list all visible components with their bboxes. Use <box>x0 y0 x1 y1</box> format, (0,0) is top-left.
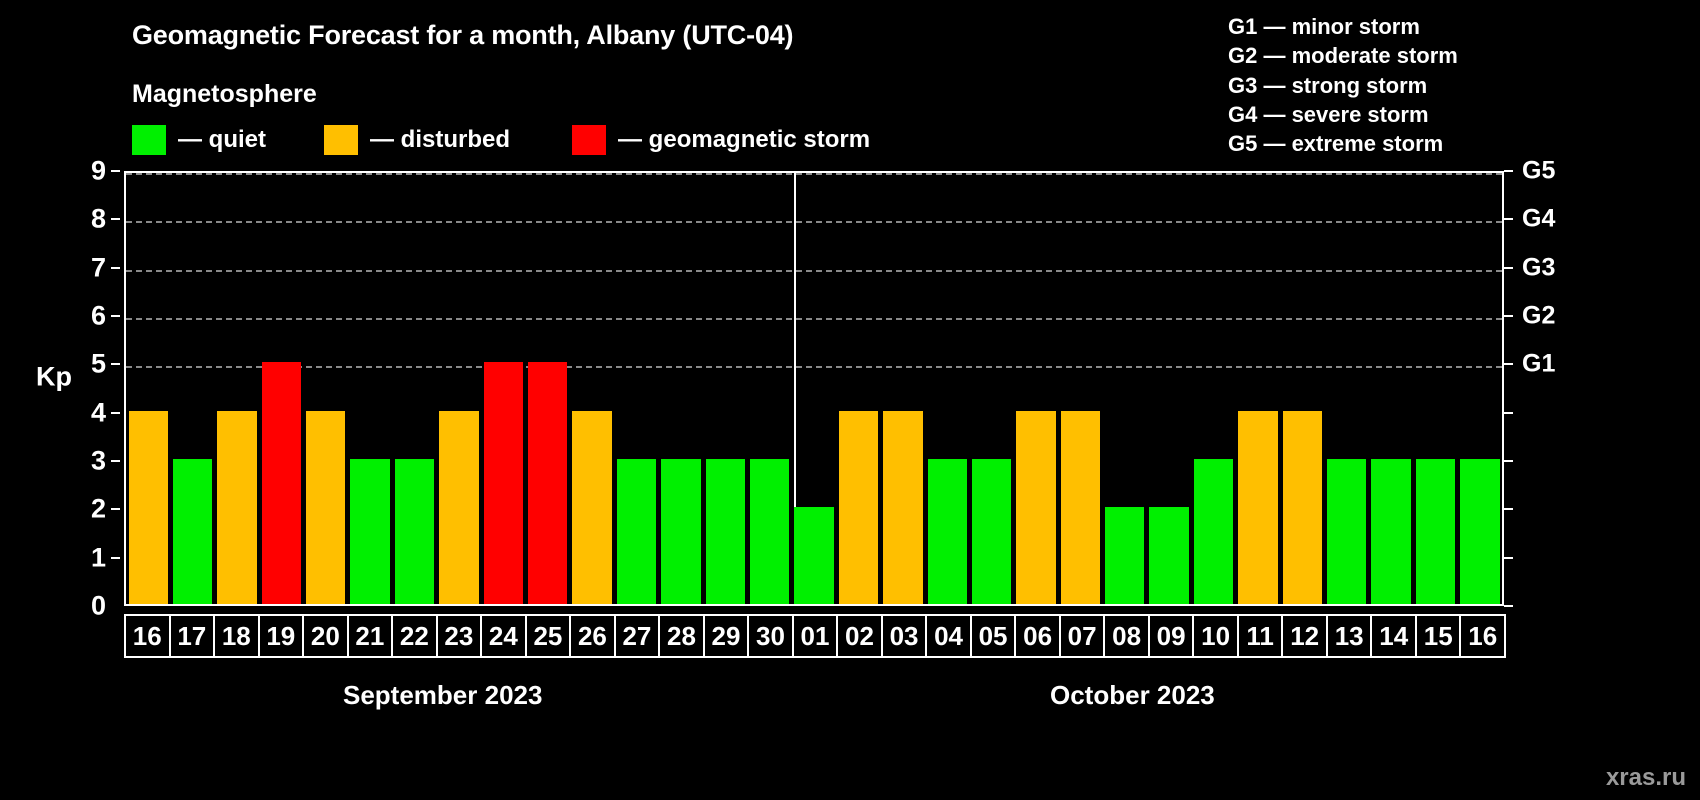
bar-cell[interactable] <box>1058 173 1102 604</box>
bar[interactable] <box>617 459 656 604</box>
bar[interactable] <box>350 459 389 604</box>
bar[interactable] <box>173 459 212 604</box>
g-tick-label: G1 <box>1522 350 1555 379</box>
bar-cell[interactable] <box>126 173 170 604</box>
bar-cell[interactable] <box>1147 173 1191 604</box>
legend-swatch-quiet-icon <box>132 125 166 155</box>
bar[interactable] <box>1371 459 1410 604</box>
y-tick-mark <box>111 170 120 172</box>
date-cell[interactable]: 16 <box>124 614 171 658</box>
bar[interactable] <box>306 411 345 604</box>
bar-cell[interactable] <box>836 173 880 604</box>
date-cell[interactable]: 10 <box>1192 614 1239 658</box>
g-scale-row: G1 — minor storm <box>1228 12 1458 41</box>
bar-cell[interactable] <box>437 173 481 604</box>
bar[interactable] <box>572 411 611 604</box>
y-tick-mark <box>111 508 120 510</box>
g-tick-mark <box>1504 605 1513 607</box>
bar[interactable] <box>1016 411 1055 604</box>
date-cell[interactable]: 12 <box>1281 614 1328 658</box>
g-tick-mark <box>1504 460 1513 462</box>
bar-cell[interactable] <box>392 173 436 604</box>
legend-entry-disturbed: — disturbed <box>324 125 510 155</box>
date-cell[interactable]: 13 <box>1326 614 1373 658</box>
date-cell[interactable]: 28 <box>658 614 705 658</box>
bar[interactable] <box>1149 507 1188 604</box>
bar-cell[interactable] <box>1369 173 1413 604</box>
date-cell[interactable]: 21 <box>347 614 394 658</box>
legend-swatch-geomagnetic-storm-icon <box>572 125 606 155</box>
g-tick-mark <box>1504 267 1513 269</box>
bar-cell[interactable] <box>881 173 925 604</box>
bar-cell[interactable] <box>1236 173 1280 604</box>
date-cell[interactable]: 16 <box>1459 614 1506 658</box>
g-tick-label: G4 <box>1522 205 1555 234</box>
y-tick-mark <box>111 460 120 462</box>
date-cell[interactable]: 23 <box>436 614 483 658</box>
bar[interactable] <box>1460 459 1499 604</box>
bar-cell[interactable] <box>481 173 525 604</box>
date-cell[interactable]: 08 <box>1103 614 1150 658</box>
g-tick-label: G3 <box>1522 253 1555 282</box>
date-cell[interactable]: 20 <box>302 614 349 658</box>
y-axis-kp: 0123456789 <box>74 171 120 606</box>
page-title: Geomagnetic Forecast for a month, Albany… <box>132 20 793 51</box>
date-cell[interactable]: 18 <box>213 614 260 658</box>
y-tick-mark <box>111 363 120 365</box>
legend-entry-quiet: — quiet <box>132 125 266 155</box>
bar-cell[interactable] <box>570 173 614 604</box>
bar-cell[interactable] <box>659 173 703 604</box>
magnetosphere-legend: — quiet— disturbed— geomagnetic storm <box>132 125 870 155</box>
g-tick-mark <box>1504 412 1513 414</box>
bar-cell[interactable] <box>703 173 747 604</box>
bar[interactable] <box>794 507 833 604</box>
date-cell[interactable]: 30 <box>747 614 794 658</box>
date-cell[interactable]: 04 <box>925 614 972 658</box>
bar[interactable] <box>928 459 967 604</box>
y-tick-label: 5 <box>91 349 106 380</box>
bar-cell[interactable] <box>925 173 969 604</box>
watermark: xras.ru <box>1606 764 1686 792</box>
date-cell[interactable]: 19 <box>258 614 305 658</box>
bar[interactable] <box>839 411 878 604</box>
date-cell[interactable]: 11 <box>1237 614 1284 658</box>
date-cell[interactable]: 24 <box>480 614 527 658</box>
bar[interactable] <box>1238 411 1277 604</box>
bar-cell[interactable] <box>1191 173 1235 604</box>
y-tick-mark <box>111 557 120 559</box>
magnetosphere-label: Magnetosphere <box>132 80 317 109</box>
g-tick-mark <box>1504 363 1513 365</box>
y-tick-mark <box>111 412 120 414</box>
y-tick-label: 6 <box>91 301 106 332</box>
g-tick-mark <box>1504 508 1513 510</box>
date-cell[interactable]: 15 <box>1415 614 1462 658</box>
legend-label: — disturbed <box>370 126 510 154</box>
g-scale-row: G3 — strong storm <box>1228 71 1458 100</box>
date-cell[interactable]: 07 <box>1059 614 1106 658</box>
bar-cell[interactable] <box>969 173 1013 604</box>
g-tick-mark <box>1504 315 1513 317</box>
plot-area <box>124 171 1504 606</box>
y-tick-mark <box>111 267 120 269</box>
date-cell[interactable]: 01 <box>792 614 839 658</box>
g-scale-row: G5 — extreme storm <box>1228 129 1458 158</box>
y-tick-label: 8 <box>91 204 106 235</box>
date-cell[interactable]: 17 <box>169 614 216 658</box>
g-scale-row: G2 — moderate storm <box>1228 41 1458 70</box>
bar[interactable] <box>1105 507 1144 604</box>
date-cell[interactable]: 09 <box>1148 614 1195 658</box>
date-cell[interactable]: 06 <box>1014 614 1061 658</box>
bar-cell[interactable] <box>1103 173 1147 604</box>
month-caption: September 2023 <box>343 680 542 711</box>
bar-cell[interactable] <box>1413 173 1457 604</box>
bar-cell[interactable] <box>1014 173 1058 604</box>
bar[interactable] <box>217 411 256 604</box>
bar-cell[interactable] <box>614 173 658 604</box>
y-tick-label: 7 <box>91 252 106 283</box>
bar-cell[interactable] <box>304 173 348 604</box>
bar[interactable] <box>528 362 567 604</box>
bars-container <box>126 173 1502 604</box>
month-caption: October 2023 <box>1050 680 1215 711</box>
bar-cell[interactable] <box>792 173 836 604</box>
bar[interactable] <box>395 459 434 604</box>
legend-label: — geomagnetic storm <box>618 126 870 154</box>
g-tick-label: G2 <box>1522 302 1555 331</box>
bar[interactable] <box>262 362 301 604</box>
bar[interactable] <box>484 362 523 604</box>
bar-cell[interactable] <box>1458 173 1502 604</box>
bar-cell[interactable] <box>1280 173 1324 604</box>
bar[interactable] <box>883 411 922 604</box>
bar-cell[interactable] <box>348 173 392 604</box>
date-cell[interactable]: 29 <box>703 614 750 658</box>
bar[interactable] <box>129 411 168 604</box>
y-tick-mark <box>111 315 120 317</box>
g-tick-label: G5 <box>1522 157 1555 186</box>
y-tick-label: 9 <box>91 156 106 187</box>
bar-cell[interactable] <box>747 173 791 604</box>
bar[interactable] <box>1283 411 1322 604</box>
bar[interactable] <box>661 459 700 604</box>
y-tick-label: 1 <box>91 542 106 573</box>
date-cell[interactable]: 27 <box>614 614 661 658</box>
date-cell[interactable]: 22 <box>391 614 438 658</box>
bar-cell[interactable] <box>526 173 570 604</box>
bar[interactable] <box>1061 411 1100 604</box>
bar[interactable] <box>972 459 1011 604</box>
bar[interactable] <box>750 459 789 604</box>
bar[interactable] <box>1194 459 1233 604</box>
g-tick-mark <box>1504 557 1513 559</box>
bar[interactable] <box>1416 459 1455 604</box>
y-tick-mark <box>111 218 120 220</box>
date-cell[interactable]: 02 <box>836 614 883 658</box>
bar[interactable] <box>1327 459 1366 604</box>
y-tick-label: 3 <box>91 446 106 477</box>
bar-cell[interactable] <box>259 173 303 604</box>
date-cell[interactable]: 03 <box>881 614 928 658</box>
y-tick-label: 0 <box>91 591 106 622</box>
y-tick-label: 4 <box>91 397 106 428</box>
bar-cell[interactable] <box>215 173 259 604</box>
date-cell[interactable]: 26 <box>569 614 616 658</box>
date-cell[interactable]: 05 <box>970 614 1017 658</box>
bar[interactable] <box>439 411 478 604</box>
date-cell[interactable]: 14 <box>1370 614 1417 658</box>
legend-swatch-disturbed-icon <box>324 125 358 155</box>
bar-cell[interactable] <box>1325 173 1369 604</box>
g-scale-row: G4 — severe storm <box>1228 100 1458 129</box>
y-tick-label: 2 <box>91 494 106 525</box>
g-scale-legend: G1 — minor stormG2 — moderate stormG3 — … <box>1228 12 1458 158</box>
y-axis-g-scale: G1G2G3G4G5 <box>1504 171 1584 606</box>
date-cell[interactable]: 25 <box>525 614 572 658</box>
g-tick-mark <box>1504 218 1513 220</box>
bar-cell[interactable] <box>170 173 214 604</box>
bar[interactable] <box>706 459 745 604</box>
legend-label: — quiet <box>178 126 266 154</box>
y-axis-title: Kp <box>36 362 72 393</box>
legend-entry-geomagnetic-storm: — geomagnetic storm <box>572 125 870 155</box>
date-axis: 1617181920212223242526272829300102030405… <box>124 614 1504 658</box>
g-tick-mark <box>1504 170 1513 172</box>
